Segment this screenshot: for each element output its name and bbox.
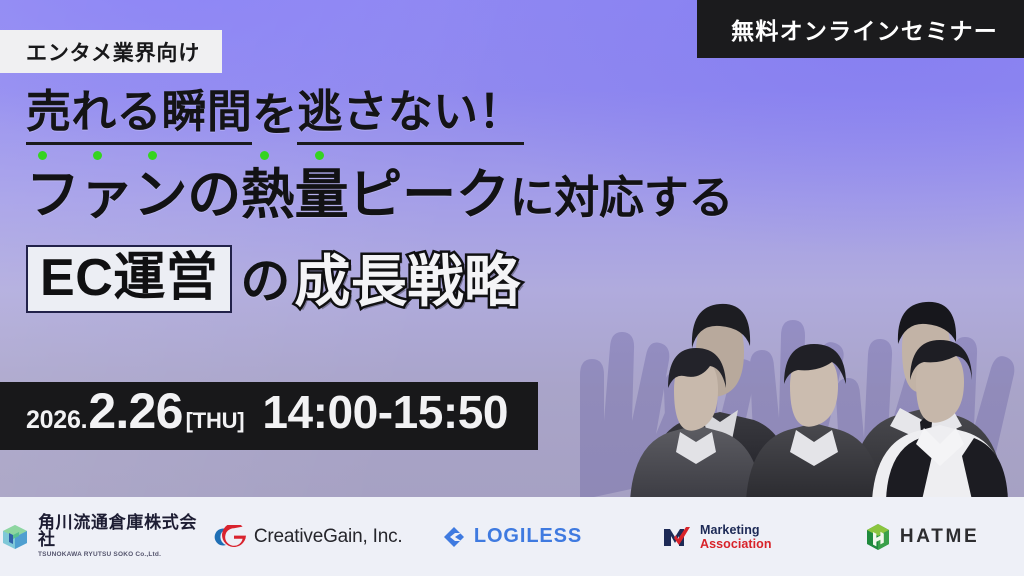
- logiless-diamond-icon: [442, 525, 466, 549]
- ec-operation-boxed-label: EC運営: [26, 245, 232, 313]
- headline-line1-part-b: を: [252, 91, 297, 145]
- date-weekday: [THU]: [186, 408, 245, 434]
- logo-tsunokawa: 角川流通倉庫株式会社 TSUNOKAWA RYUTSU SOKO Co.,Ltd…: [0, 514, 205, 559]
- headline-line2-part-a: ファンの熱量ピーク: [26, 165, 510, 225]
- date-time-bar: 2026. 2.26 [THU] 14:00-15:50: [0, 382, 538, 450]
- cg-monogram-icon: [212, 525, 246, 549]
- logo-marketing-association: Marketing Association: [614, 523, 819, 551]
- headline-line-2: ファンの熱量ピークに対応する: [26, 167, 906, 223]
- logo-logiless: LOGILESS: [410, 525, 615, 549]
- date-year: 2026.: [26, 406, 87, 435]
- emphasis-dots-icon: [28, 151, 728, 165]
- logo-tsunokawa-subtitle: TSUNOKAWA RYUTSU SOKO Co.,Ltd.: [38, 552, 205, 559]
- online-seminar-label: 無料オンラインセミナー: [731, 12, 998, 46]
- online-seminar-tag: 無料オンラインセミナー: [697, 0, 1024, 58]
- date-time-range: 14:00-15:50: [262, 385, 508, 439]
- logo-creativegain: CreativeGain, Inc.: [205, 525, 410, 549]
- logo-ma-line1: Marketing: [700, 523, 772, 537]
- headline-line3-particle: の: [240, 241, 290, 317]
- logo-creativegain-name: CreativeGain, Inc.: [254, 526, 403, 548]
- headline-block: 売れる瞬間 を 逃さない！ ファンの熱量ピークに対応する EC運営 の 成長戦略: [26, 88, 906, 322]
- headline-line1-part-c: 逃さない！: [297, 88, 523, 145]
- webinar-banner: 無料オンラインセミナー エンタメ業界向け 売れる瞬間 を 逃さない！ ファンの熱…: [0, 0, 1024, 576]
- headline-line1-part-a: 売れる瞬間: [26, 88, 252, 145]
- industry-badge: エンタメ業界向け: [0, 30, 222, 73]
- growth-strategy-label: 成長戦略: [294, 237, 520, 322]
- headline-line2-part-b: に対応する: [510, 172, 734, 223]
- logo-hatme-name: HATME: [900, 526, 979, 548]
- hatme-hex-icon: [864, 523, 892, 551]
- cube-mark-icon: [0, 522, 30, 552]
- logo-hatme: HATME: [819, 523, 1024, 551]
- sponsor-logo-bar: 角川流通倉庫株式会社 TSUNOKAWA RYUTSU SOKO Co.,Ltd…: [0, 497, 1024, 576]
- industry-badge-label: エンタメ業界向け: [26, 37, 200, 67]
- headline-line-3: EC運営 の 成長戦略: [26, 237, 906, 322]
- logo-tsunokawa-name: 角川流通倉庫株式会社: [38, 514, 205, 548]
- logo-logiless-name: LOGILESS: [474, 525, 582, 548]
- logo-ma-line2: Association: [700, 537, 772, 551]
- date-day: 2.26: [88, 382, 182, 440]
- m-check-icon: [662, 524, 692, 550]
- headline-line-1: 売れる瞬間 を 逃さない！: [26, 88, 906, 145]
